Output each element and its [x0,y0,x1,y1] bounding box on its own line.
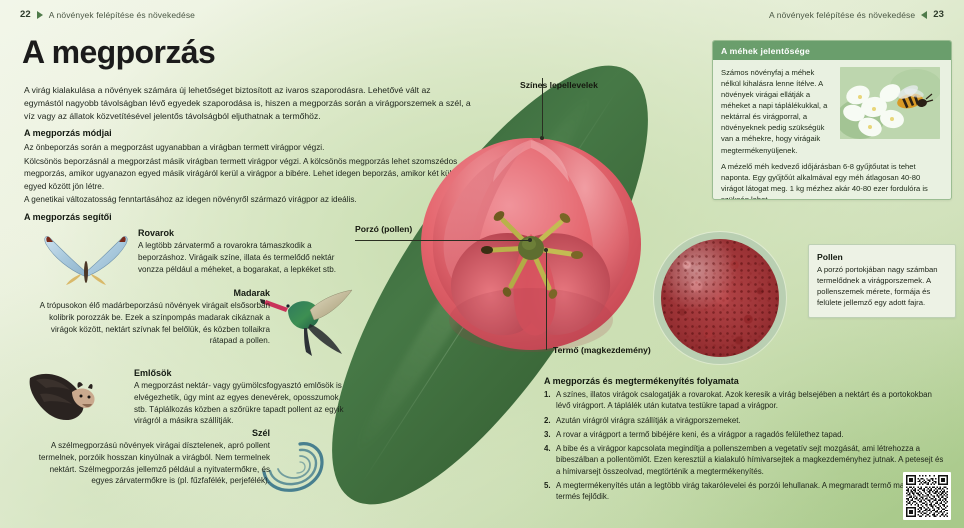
pollinator-title: Emlősök [134,368,350,378]
callout-dot-lepellevelek [540,136,544,140]
process-step: A színes, illatos virágok csalogatják a … [544,389,944,412]
callout-dot-termo [544,248,548,252]
bee-box-text-bottom: A mézelő méh kedvező időjárásban 6-8 gyű… [721,161,943,200]
pollen-grain-sphere [661,239,779,357]
chapter-title-right: A növények felépítése és növekedése [769,10,915,20]
callout-line-termo [546,250,547,350]
hummingbird-illustration [258,278,354,362]
callout-lepellevelek: Színes lepellevelek [520,80,598,90]
pollen-grain-micrograph [654,232,786,364]
lead-paragraph: A virág kialakulása a növények számára ú… [24,84,472,123]
pollinator-body: A szélmegporzású növények virágai díszte… [34,440,270,487]
bee-on-white-flowers-photo [840,67,940,139]
pollinator-block-emlosok: Emlősök A megporzást nektár- vagy gyümöl… [134,368,350,427]
page-title: A megporzás [22,34,215,71]
qr-code-icon [906,475,948,517]
callout-line-porzo [355,240,530,241]
pollinator-title: Madarak [38,288,270,298]
pollinator-block-rovarok: Rovarok A legtöbb zárvatermő a rovarokra… [138,228,350,275]
triangle-right-icon [37,11,43,19]
callout-termo: Termő (magkezdemény) [553,345,651,355]
section-heading-modjai: A megporzás módjai [24,128,112,138]
triangle-left-icon [921,11,927,19]
pollinator-body: A megporzást nektár- vagy gyümölcsfogyas… [134,380,350,427]
butterfly-illustration [40,232,132,290]
chapter-title-left: A növények felépítése és növekedése [49,10,195,20]
pollen-info-box: Pollen A porzó portokjában nagy számban … [808,244,956,318]
paragraph-onbeporzas: Az önbeporzás során a megporzást ugyanab… [24,142,472,154]
bee-box-text-top: Számos növényfaj a méhek nélkül kihalásr… [721,67,833,156]
pollen-box-text: A porzó portokjában nagy számban termelő… [817,264,947,309]
process-step: A bibe és a virágpor kapcsolata megindít… [544,443,944,477]
header-left: 22 A növények felépítése és növekedése [20,9,195,20]
section-heading-segitoi: A megporzás segítői [24,212,112,222]
bat-illustration [28,368,132,430]
process-step: Azután virágról virágra szállítják a vir… [544,415,944,426]
pollen-box-heading: Pollen [817,252,947,262]
page-number-right: 23 [933,9,944,20]
process-step: A rovar a virágport a termő bibéjére ken… [544,429,944,440]
pollinator-body: A legtöbb zárvatermő a rovarokra támaszk… [138,240,350,275]
bee-box-heading: A méhek jelentősége [713,41,951,60]
bee-box-body: Számos növényfaj a méhek nélkül kihalásr… [713,60,951,200]
pollinator-block-madarak: Madarak A trópusokon élő madárbeporzású … [38,288,270,347]
process-section: A megporzás és megtermékenyítés folyamat… [544,376,944,506]
process-heading: A megporzás és megtermékenyítés folyamat… [544,376,944,386]
pollinator-title: Szél [34,428,270,438]
textbook-spread: 22 A növények felépítése és növekedése A… [0,0,964,528]
header-right: A növények felépítése és növekedése 23 [769,9,944,20]
callout-porzo: Porzó (pollen) [355,224,412,234]
pollinator-body: A trópusokon élő madárbeporzású növények… [38,300,270,347]
bee-importance-box: A méhek jelentősége Számos növényfaj a m… [712,40,952,200]
paragraph-genetikai: A genetikai változatosság fenntartásához… [24,194,472,206]
callout-dot-porzo [528,238,532,242]
process-step-list: A színes, illatos virágok csalogatják a … [544,389,944,503]
page-number-left: 22 [20,9,31,20]
qr-code[interactable] [903,472,951,520]
process-step: A megtermékenyítés után a legtöbb virág … [544,480,944,503]
callout-line-lepellevelek-b [542,106,543,136]
wind-swirl-illustration [260,432,334,502]
bee-box-top-row: Számos növényfaj a méhek nélkül kihalásr… [721,67,943,156]
pollinator-title: Rovarok [138,228,350,238]
pollinator-block-szel: Szél A szélmegporzású növények virágai d… [34,428,270,487]
